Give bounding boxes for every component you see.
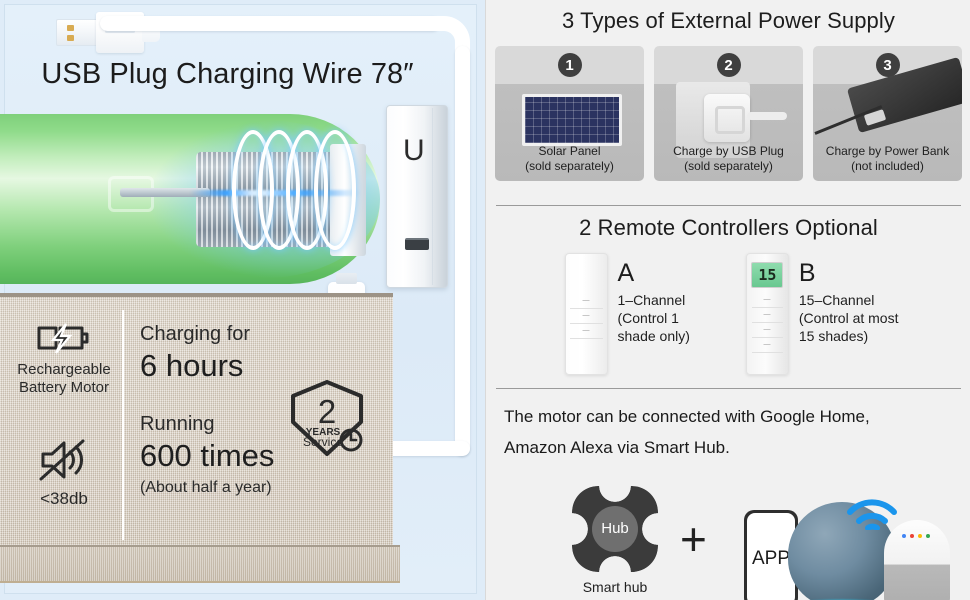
smart-devices-group: APP *Not included: [726, 474, 966, 600]
section-1-title: 3 Types of External Power Supply: [486, 8, 970, 34]
adapter-cord: [747, 112, 787, 120]
remote-button-up: [570, 294, 603, 309]
smart-home-text-line1: The motor can be connected with Google H…: [504, 406, 953, 429]
card-caption-line1: Charge by Power Bank: [813, 144, 962, 160]
fabric-bottom-rail: [0, 545, 400, 583]
motor-head-unit: U: [386, 105, 448, 288]
feature-label-line2: Battery Motor: [8, 379, 120, 397]
card-caption-line2: (not included): [813, 159, 962, 175]
section-divider-2: [496, 388, 961, 389]
usb-connector-metal: [56, 19, 98, 46]
power-supply-cards: 1 Solar Panel (sold separately) 2 Charge…: [486, 46, 970, 181]
power-card-solar[interactable]: 1 Solar Panel (sold separately): [495, 46, 644, 181]
charging-cable-top-run: [100, 16, 440, 31]
power-bank-icon: [847, 57, 962, 133]
motor-brand-mark: U: [403, 136, 425, 166]
feature-label-line1: Rechargeable: [8, 361, 120, 379]
feature-rechargeable-battery: Rechargeable Battery Motor: [8, 322, 120, 396]
remote-desc-line3: 15 shades): [799, 328, 899, 346]
solar-panel-icon: [522, 94, 622, 146]
remote-button-down: [570, 324, 603, 339]
remote-control-b-icon: 15: [746, 253, 789, 375]
motor-head-seam: [432, 108, 433, 285]
card-number-badge: 1: [558, 53, 582, 77]
warranty-service-label: Service: [303, 435, 343, 449]
usb-pin: [67, 25, 74, 31]
hub-caption-line1: Smart hub: [550, 578, 680, 596]
remote-desc-line3: shade only): [618, 328, 690, 346]
plus-icon: +: [680, 516, 707, 562]
magnetic-coil-icon: [314, 130, 356, 250]
card-caption: Solar Panel (sold separately): [495, 144, 644, 175]
power-card-power-bank[interactable]: 3 Charge by Power Bank (not included): [813, 46, 962, 181]
card-caption-line2: (sold separately): [495, 159, 644, 175]
warranty-shield-icon: 2 YEARS Service: [287, 378, 367, 458]
google-home-icon: [884, 520, 950, 600]
wall-adapter-icon: [704, 94, 750, 142]
charging-time-label: Charging for: [140, 322, 360, 346]
left-panel: USB Plug Charging Wire 78″ U: [0, 0, 485, 600]
smart-hub-icon: Hub: [572, 486, 658, 572]
card-number-badge: 3: [876, 53, 900, 77]
remote-letter: B: [799, 261, 899, 286]
remote-desc-line1: 15–Channel: [799, 292, 899, 310]
card-caption-line1: Charge by USB Plug: [654, 144, 803, 160]
card-caption: Charge by Power Bank (not included): [813, 144, 962, 175]
remote-a-text: A 1–Channel (Control 1 shade only): [618, 253, 690, 346]
power-card-usb-plug[interactable]: 2 Charge by USB Plug (sold separately): [654, 46, 803, 181]
smart-home-diagram: Hub Smart hub (sold separately) + APP: [504, 468, 953, 600]
remote-letter: A: [618, 261, 690, 286]
remote-button-channel: [752, 338, 783, 353]
card-caption-line2: (sold separately): [654, 159, 803, 175]
section-remote-controllers: 2 Remote Controllers Optional A 1–Channe…: [486, 215, 970, 375]
battery-charging-icon: [36, 322, 92, 354]
remote-lcd-display: 15: [751, 262, 783, 288]
remote-button-down: [752, 323, 783, 338]
remote-button-up: [752, 293, 783, 308]
remote-option-b[interactable]: 15 B 15–Channel (Control at most 15 shad…: [746, 253, 899, 375]
micro-usb-port-icon: [405, 238, 429, 250]
section-2-title: 2 Remote Controllers Optional: [486, 215, 970, 241]
remote-desc-line2: (Control at most: [799, 310, 899, 328]
smart-hub-group: Hub Smart hub (sold separately): [550, 486, 680, 600]
hub-badge-label: Hub: [592, 506, 638, 552]
section-external-power: 3 Types of External Power Supply 1 Solar…: [486, 8, 970, 181]
remote-desc-line1: 1–Channel: [618, 292, 690, 310]
right-panel: 3 Types of External Power Supply 1 Solar…: [485, 0, 970, 600]
remote-button-stop: [570, 309, 603, 324]
product-infographic: USB Plug Charging Wire 78″ U: [0, 0, 970, 600]
section-divider-1: [496, 205, 961, 206]
remote-b-text: B 15–Channel (Control at most 15 shades): [799, 253, 899, 346]
warranty-years-number: 2: [318, 393, 336, 430]
mute-speaker-icon: [37, 438, 91, 482]
card-caption-line1: Solar Panel: [495, 144, 644, 160]
charging-cable-right-run: [455, 46, 470, 456]
remote-options: A 1–Channel (Control 1 shade only) 15: [486, 253, 970, 375]
card-number-badge: 2: [717, 53, 741, 77]
usb-plug-icon: [56, 8, 176, 54]
feature-label-db: <38db: [8, 489, 120, 509]
page-title: USB Plug Charging Wire 78″: [0, 58, 455, 91]
usb-pin: [67, 35, 74, 41]
feature-quiet-operation: <38db: [8, 438, 120, 509]
remote-control-a-icon: [565, 253, 608, 375]
smart-home-text-line2: Amazon Alexa via Smart Hub.: [504, 437, 953, 460]
remote-button-stop: [752, 308, 783, 323]
remote-desc-line2: (Control 1: [618, 310, 690, 328]
roller-tube-illustration: [0, 106, 420, 291]
feature-divider: [122, 310, 124, 540]
section-smart-home: The motor can be connected with Google H…: [486, 398, 970, 600]
remote-option-a[interactable]: A 1–Channel (Control 1 shade only): [565, 253, 690, 375]
card-caption: Charge by USB Plug (sold separately): [654, 144, 803, 175]
wifi-icon: [844, 492, 900, 530]
google-home-leds: [902, 532, 932, 540]
running-cycles-note: (About half a year): [140, 479, 360, 497]
